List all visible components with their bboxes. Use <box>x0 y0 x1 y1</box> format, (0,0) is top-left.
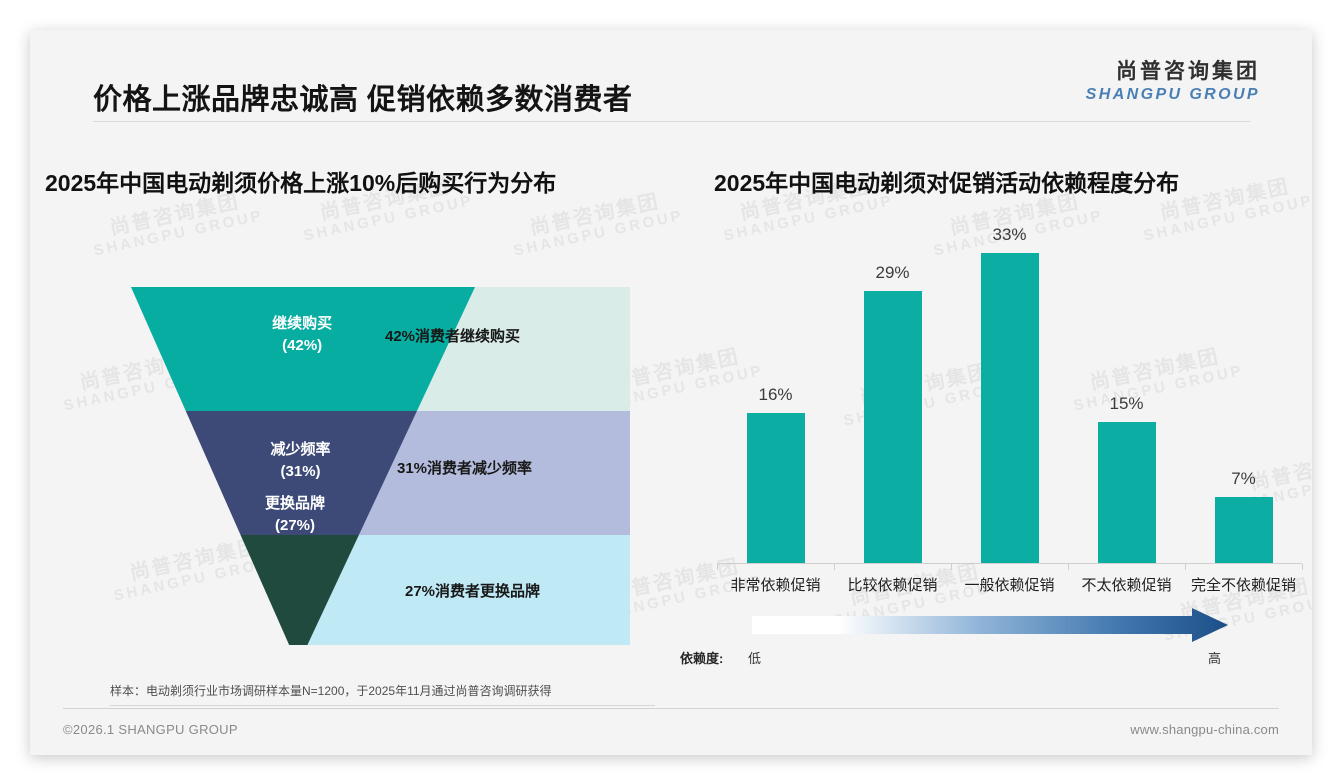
bar-value-label: 29% <box>875 263 909 283</box>
page-title: 价格上涨品牌忠诚高 促销依赖多数消费者 <box>93 76 633 118</box>
bar-column: 7% <box>1185 225 1302 563</box>
x-axis-tick <box>834 564 835 570</box>
x-axis-category-label: 非常依赖促销 <box>717 574 834 595</box>
legend-caption: 依赖度: <box>680 648 723 667</box>
bar-2[interactable] <box>864 291 922 563</box>
funnel-panel-0-text: 42%消费者继续购买 <box>385 325 520 346</box>
bar-value-label: 16% <box>758 385 792 405</box>
x-axis-tick <box>1185 564 1186 570</box>
x-axis-tick <box>717 564 718 570</box>
funnel-segment-0[interactable] <box>131 287 475 411</box>
funnel-panel-2-text: 27%消费者更换品牌 <box>405 580 540 601</box>
bar-value-label: 7% <box>1231 469 1256 489</box>
x-axis-category-label: 一般依赖促销 <box>951 574 1068 595</box>
brand-logo: 尚普咨询集团 SHANGPU GROUP <box>1086 59 1260 104</box>
footnote: 样本：电动剃须行业市场调研样本量N=1200，于2025年11月通过尚普咨询调研… <box>110 682 655 706</box>
website-link[interactable]: www.shangpu-china.com <box>1130 722 1279 737</box>
logo-english-text: SHANGPU GROUP <box>1086 85 1260 104</box>
copyright-text: ©2026.1 SHANGPU GROUP <box>63 722 238 737</box>
x-axis-category-label: 完全不依赖促销 <box>1185 574 1302 595</box>
x-axis-tick <box>951 564 952 570</box>
x-axis-tick <box>1302 564 1303 570</box>
bar-chart: 16%29%33%15%7% 非常依赖促销比较依赖促销一般依赖促销不太依赖促销完… <box>680 225 1295 615</box>
header-divider <box>93 121 1250 122</box>
footer-divider <box>63 708 1279 709</box>
x-axis-tick <box>1068 564 1069 570</box>
footnote-text: 样本：电动剃须行业市场调研样本量N=1200，于2025年11月通过尚普咨询调研… <box>110 682 655 699</box>
x-axis-category-label: 不太依赖促销 <box>1068 574 1185 595</box>
bar-1[interactable] <box>747 413 805 563</box>
bar-5[interactable] <box>1215 497 1273 563</box>
x-axis-category-label: 比较依赖促销 <box>834 574 951 595</box>
bar-value-label: 33% <box>992 225 1026 245</box>
footnote-rule <box>110 705 655 706</box>
slide-canvas: 尚普咨询集团SHANGPU GROUP 尚普咨询集团SHANGPU GROUP … <box>0 0 1340 780</box>
dependence-gradient-legend: 依赖度: 低 高 <box>680 608 1295 678</box>
legend-high-label: 高 <box>1208 648 1221 667</box>
slide-card: 尚普咨询集团SHANGPU GROUP 尚普咨询集团SHANGPU GROUP … <box>30 30 1312 755</box>
left-chart-title: 2025年中国电动剃须价格上涨10%后购买行为分布 <box>45 164 556 198</box>
funnel-graphic <box>45 225 655 645</box>
legend-low-label: 低 <box>748 648 761 667</box>
bar-plot-area: 16%29%33%15%7% <box>717 225 1302 563</box>
bar-3[interactable] <box>981 253 1039 563</box>
right-chart-title: 2025年中国电动剃须对促销活动依赖程度分布 <box>714 164 1179 198</box>
bar-column: 33% <box>951 225 1068 563</box>
bar-column: 29% <box>834 225 951 563</box>
slide-footer: ©2026.1 SHANGPU GROUP www.shangpu-china.… <box>30 716 1312 755</box>
bar-column: 16% <box>717 225 834 563</box>
slide-header: 价格上涨品牌忠诚高 促销依赖多数消费者 尚普咨询集团 SHANGPU GROUP <box>30 30 1312 122</box>
logo-chinese-text: 尚普咨询集团 <box>1086 59 1260 85</box>
funnel-panel-1-text: 31%消费者减少频率 <box>397 457 532 478</box>
bar-value-label: 15% <box>1109 394 1143 414</box>
bar-column: 15% <box>1068 225 1185 563</box>
funnel-chart: 继续购买 (42%) 减少频率 (31%) 更换品牌 (27%) 42%消费者继… <box>45 225 655 645</box>
x-axis-line <box>717 563 1302 564</box>
gradient-arrow-icon <box>752 608 1228 642</box>
bar-4[interactable] <box>1098 422 1156 563</box>
